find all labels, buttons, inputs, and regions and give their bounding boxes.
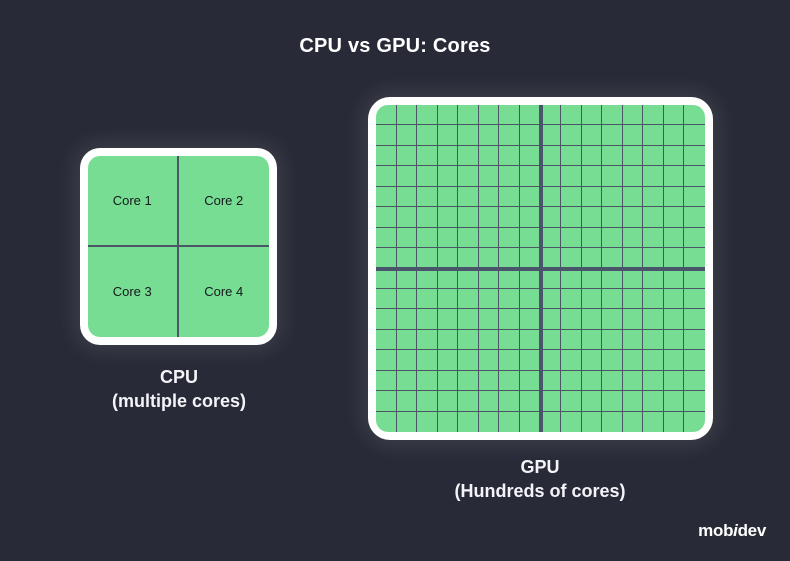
- gpu-core-cell: [684, 350, 705, 370]
- gpu-core-cell: [561, 228, 582, 248]
- gpu-core-cell: [397, 166, 418, 186]
- gpu-core-cell: [499, 289, 520, 309]
- gpu-core-cell: [458, 412, 479, 432]
- gpu-core-cell: [520, 166, 541, 186]
- gpu-core-cell: [417, 146, 438, 166]
- gpu-core-cell: [499, 371, 520, 391]
- gpu-core-cell: [479, 105, 500, 125]
- gpu-core-cell: [684, 289, 705, 309]
- gpu-core-cell: [602, 289, 623, 309]
- gpu-core-cell: [602, 207, 623, 227]
- gpu-core-cell: [479, 269, 500, 289]
- gpu-caption: GPU (Hundreds of cores): [410, 456, 670, 504]
- gpu-core-cell: [376, 371, 397, 391]
- gpu-core-cell: [417, 289, 438, 309]
- gpu-core-cell: [623, 371, 644, 391]
- gpu-core-cell: [684, 228, 705, 248]
- gpu-core-cell: [541, 125, 562, 145]
- gpu-core-cell: [664, 248, 685, 268]
- gpu-core-cell: [643, 309, 664, 329]
- gpu-core-cell: [541, 228, 562, 248]
- gpu-core-cell: [520, 125, 541, 145]
- gpu-core-cell: [561, 391, 582, 411]
- gpu-core-cell: [561, 125, 582, 145]
- gpu-core-cell: [664, 269, 685, 289]
- gpu-core-cell: [561, 330, 582, 350]
- gpu-core-cell: [417, 309, 438, 329]
- gpu-core-cell: [397, 125, 418, 145]
- gpu-core-cell: [458, 207, 479, 227]
- gpu-core-cell: [582, 248, 603, 268]
- gpu-core-cell: [438, 289, 459, 309]
- gpu-core-cell: [643, 228, 664, 248]
- gpu-core-cell: [438, 309, 459, 329]
- gpu-core-cell: [458, 269, 479, 289]
- gpu-core-cell: [397, 228, 418, 248]
- gpu-core-cell: [561, 289, 582, 309]
- gpu-core-cell: [541, 330, 562, 350]
- gpu-core-cell: [438, 207, 459, 227]
- gpu-core-cell: [602, 146, 623, 166]
- gpu-core-cell: [417, 371, 438, 391]
- gpu-core-cell: [458, 166, 479, 186]
- gpu-core-cell: [479, 228, 500, 248]
- gpu-chip-frame: [368, 97, 713, 440]
- gpu-core-cell: [684, 125, 705, 145]
- gpu-core-cell: [664, 105, 685, 125]
- gpu-core-cell: [520, 391, 541, 411]
- gpu-core-cell: [623, 207, 644, 227]
- gpu-core-cell: [602, 309, 623, 329]
- gpu-core-cell: [376, 350, 397, 370]
- gpu-core-cell: [397, 248, 418, 268]
- gpu-core-cell: [541, 289, 562, 309]
- gpu-core-cell: [458, 350, 479, 370]
- gpu-core-cell: [602, 391, 623, 411]
- gpu-core-cell: [664, 187, 685, 207]
- gpu-core-cell: [397, 289, 418, 309]
- gpu-core-cell: [417, 166, 438, 186]
- diagram-canvas: CPU vs GPU: Cores Core 1 Core 2 Core 3 C…: [0, 0, 790, 561]
- gpu-core-cell: [582, 371, 603, 391]
- gpu-core-cell: [499, 330, 520, 350]
- gpu-core-cell: [520, 146, 541, 166]
- gpu-core-cell: [684, 412, 705, 432]
- gpu-core-cell: [561, 350, 582, 370]
- gpu-core-cell: [561, 207, 582, 227]
- gpu-core-cell: [643, 125, 664, 145]
- gpu-core-cell: [602, 412, 623, 432]
- gpu-core-cell: [376, 207, 397, 227]
- gpu-core-cell: [602, 228, 623, 248]
- gpu-die: [376, 105, 705, 432]
- gpu-core-cell: [417, 391, 438, 411]
- gpu-core-cell: [397, 350, 418, 370]
- gpu-core-cell: [623, 146, 644, 166]
- gpu-core-cell: [479, 125, 500, 145]
- gpu-core-cell: [499, 146, 520, 166]
- gpu-core-cell: [561, 187, 582, 207]
- gpu-core-cell: [623, 166, 644, 186]
- gpu-core-cell: [438, 105, 459, 125]
- gpu-core-cell: [458, 330, 479, 350]
- gpu-core-cell: [479, 391, 500, 411]
- cpu-core-label: Core 4: [204, 284, 243, 299]
- gpu-core-cell: [458, 248, 479, 268]
- cpu-core-label: Core 1: [113, 193, 152, 208]
- gpu-core-cell: [520, 228, 541, 248]
- cpu-chip-frame: Core 1 Core 2 Core 3 Core 4: [80, 148, 277, 345]
- gpu-core-cell: [684, 105, 705, 125]
- gpu-core-cell: [582, 166, 603, 186]
- gpu-core-cell: [499, 207, 520, 227]
- gpu-core-cell: [623, 187, 644, 207]
- cpu-core-cell: Core 3: [88, 247, 179, 338]
- gpu-core-cell: [499, 248, 520, 268]
- gpu-core-cell: [499, 269, 520, 289]
- gpu-core-cell: [417, 207, 438, 227]
- gpu-core-cell: [417, 350, 438, 370]
- gpu-core-cell: [438, 248, 459, 268]
- gpu-core-cell: [376, 330, 397, 350]
- gpu-core-cell: [376, 269, 397, 289]
- gpu-core-cell: [541, 187, 562, 207]
- cpu-core-label: Core 3: [113, 284, 152, 299]
- gpu-core-cell: [417, 412, 438, 432]
- gpu-core-cell: [417, 228, 438, 248]
- gpu-core-cell: [438, 269, 459, 289]
- gpu-core-cell: [664, 228, 685, 248]
- gpu-core-cell: [541, 391, 562, 411]
- gpu-core-cell: [541, 412, 562, 432]
- gpu-core-cell: [582, 350, 603, 370]
- cpu-core-cell: Core 1: [88, 156, 179, 247]
- gpu-core-cell: [664, 391, 685, 411]
- gpu-core-cell: [520, 187, 541, 207]
- gpu-core-cell: [499, 309, 520, 329]
- gpu-core-cell: [602, 166, 623, 186]
- gpu-core-cell: [376, 309, 397, 329]
- gpu-core-cell: [417, 269, 438, 289]
- gpu-core-cell: [684, 371, 705, 391]
- gpu-core-cell: [643, 391, 664, 411]
- gpu-core-cell: [582, 412, 603, 432]
- gpu-core-cell: [438, 125, 459, 145]
- gpu-core-cell: [520, 105, 541, 125]
- gpu-core-cell: [684, 269, 705, 289]
- gpu-core-cell: [438, 350, 459, 370]
- gpu-core-cell: [458, 228, 479, 248]
- logo-part-1: mob: [698, 521, 733, 540]
- gpu-core-cell: [602, 105, 623, 125]
- gpu-core-cell: [561, 166, 582, 186]
- gpu-core-cell: [643, 105, 664, 125]
- gpu-core-cell: [664, 330, 685, 350]
- gpu-core-cell: [561, 412, 582, 432]
- gpu-core-cell: [664, 350, 685, 370]
- gpu-core-cell: [479, 187, 500, 207]
- gpu-core-cell: [643, 371, 664, 391]
- gpu-core-cell: [376, 248, 397, 268]
- gpu-core-cell: [643, 289, 664, 309]
- gpu-core-cell: [623, 309, 644, 329]
- gpu-caption-line1: GPU: [520, 457, 559, 477]
- gpu-core-cell: [541, 371, 562, 391]
- cpu-caption: CPU (multiple cores): [50, 366, 308, 414]
- cpu-caption-line1: CPU: [160, 367, 198, 387]
- gpu-core-cell: [623, 248, 644, 268]
- gpu-core-cell: [582, 105, 603, 125]
- gpu-core-cell: [664, 412, 685, 432]
- gpu-center-divider-horizontal: [376, 267, 705, 271]
- gpu-core-cell: [479, 350, 500, 370]
- gpu-core-cell: [458, 371, 479, 391]
- cpu-die: Core 1 Core 2 Core 3 Core 4: [88, 156, 269, 337]
- gpu-core-cell: [582, 187, 603, 207]
- gpu-core-cell: [582, 228, 603, 248]
- gpu-core-cell: [397, 269, 418, 289]
- gpu-core-cell: [541, 146, 562, 166]
- gpu-core-cell: [376, 391, 397, 411]
- gpu-core-cell: [664, 146, 685, 166]
- gpu-core-cell: [684, 391, 705, 411]
- gpu-core-cell: [561, 269, 582, 289]
- gpu-core-cell: [684, 187, 705, 207]
- gpu-core-cell: [479, 412, 500, 432]
- cpu-caption-line2: (multiple cores): [50, 390, 308, 414]
- gpu-core-cell: [376, 412, 397, 432]
- gpu-core-cell: [541, 350, 562, 370]
- gpu-core-cell: [643, 350, 664, 370]
- page-title: CPU vs GPU: Cores: [0, 34, 790, 58]
- logo-part-3: dev: [738, 521, 766, 540]
- gpu-core-cell: [438, 330, 459, 350]
- gpu-core-cell: [397, 412, 418, 432]
- gpu-core-cell: [561, 146, 582, 166]
- gpu-core-cell: [438, 412, 459, 432]
- gpu-core-cell: [582, 125, 603, 145]
- gpu-core-cell: [499, 228, 520, 248]
- gpu-core-cell: [438, 187, 459, 207]
- gpu-core-cell: [458, 105, 479, 125]
- cpu-core-cell: Core 4: [179, 247, 270, 338]
- gpu-core-cell: [582, 391, 603, 411]
- gpu-core-cell: [417, 125, 438, 145]
- gpu-core-cell: [664, 289, 685, 309]
- gpu-core-cell: [458, 309, 479, 329]
- gpu-core-cell: [541, 248, 562, 268]
- gpu-core-cell: [479, 309, 500, 329]
- gpu-core-cell: [582, 289, 603, 309]
- gpu-core-cell: [582, 269, 603, 289]
- gpu-core-cell: [438, 228, 459, 248]
- gpu-core-cell: [499, 412, 520, 432]
- gpu-core-cell: [479, 166, 500, 186]
- gpu-core-cell: [684, 207, 705, 227]
- gpu-core-cell: [602, 350, 623, 370]
- gpu-core-cell: [520, 269, 541, 289]
- gpu-core-cell: [561, 105, 582, 125]
- gpu-core-cell: [623, 412, 644, 432]
- gpu-core-cell: [684, 330, 705, 350]
- gpu-core-cell: [376, 289, 397, 309]
- gpu-core-cell: [397, 371, 418, 391]
- gpu-core-cell: [582, 330, 603, 350]
- gpu-core-cell: [643, 207, 664, 227]
- gpu-core-cell: [664, 309, 685, 329]
- gpu-core-cell: [499, 105, 520, 125]
- gpu-core-cell: [643, 330, 664, 350]
- gpu-core-cell: [602, 269, 623, 289]
- gpu-core-cell: [684, 309, 705, 329]
- gpu-core-cell: [582, 146, 603, 166]
- gpu-core-cell: [376, 125, 397, 145]
- gpu-core-cell: [376, 228, 397, 248]
- gpu-core-cell: [499, 166, 520, 186]
- gpu-core-cell: [417, 248, 438, 268]
- gpu-core-cell: [397, 146, 418, 166]
- gpu-core-cell: [541, 166, 562, 186]
- gpu-core-cell: [541, 309, 562, 329]
- gpu-core-cell: [438, 166, 459, 186]
- gpu-core-cell: [623, 330, 644, 350]
- gpu-core-cell: [458, 391, 479, 411]
- gpu-core-cell: [520, 330, 541, 350]
- gpu-core-cell: [520, 207, 541, 227]
- gpu-core-cell: [684, 248, 705, 268]
- gpu-core-cell: [664, 207, 685, 227]
- gpu-core-cell: [479, 146, 500, 166]
- gpu-core-cell: [582, 309, 603, 329]
- gpu-core-cell: [479, 207, 500, 227]
- gpu-core-cell: [643, 412, 664, 432]
- gpu-core-cell: [561, 248, 582, 268]
- gpu-core-cell: [643, 146, 664, 166]
- gpu-core-cell: [397, 330, 418, 350]
- gpu-core-cell: [417, 187, 438, 207]
- gpu-core-cell: [623, 125, 644, 145]
- gpu-core-cell: [520, 412, 541, 432]
- gpu-core-cell: [520, 371, 541, 391]
- gpu-core-cell: [643, 166, 664, 186]
- cpu-core-label: Core 2: [204, 193, 243, 208]
- gpu-core-cell: [397, 187, 418, 207]
- gpu-core-cell: [684, 166, 705, 186]
- gpu-core-cell: [376, 105, 397, 125]
- gpu-core-cell: [541, 269, 562, 289]
- gpu-core-cell: [397, 207, 418, 227]
- gpu-core-cell: [417, 105, 438, 125]
- gpu-core-cell: [520, 289, 541, 309]
- cpu-core-cell: Core 2: [179, 156, 270, 247]
- gpu-core-cell: [397, 391, 418, 411]
- gpu-core-cell: [643, 187, 664, 207]
- gpu-core-cell: [602, 125, 623, 145]
- gpu-core-cell: [541, 207, 562, 227]
- gpu-core-cell: [458, 146, 479, 166]
- gpu-core-cell: [623, 228, 644, 248]
- gpu-core-cell: [643, 269, 664, 289]
- gpu-core-cell: [376, 166, 397, 186]
- gpu-core-cell: [479, 289, 500, 309]
- gpu-core-cell: [602, 371, 623, 391]
- gpu-core-cell: [582, 207, 603, 227]
- gpu-core-cell: [602, 248, 623, 268]
- gpu-core-cell: [561, 309, 582, 329]
- gpu-core-cell: [458, 289, 479, 309]
- gpu-core-cell: [458, 187, 479, 207]
- gpu-core-cell: [520, 248, 541, 268]
- gpu-core-cell: [417, 330, 438, 350]
- gpu-core-cell: [376, 187, 397, 207]
- gpu-core-cell: [664, 125, 685, 145]
- gpu-core-cell: [664, 166, 685, 186]
- mobidev-logo: mobidev: [698, 521, 766, 541]
- gpu-core-cell: [397, 105, 418, 125]
- gpu-core-cell: [458, 125, 479, 145]
- gpu-core-cell: [623, 289, 644, 309]
- gpu-core-cell: [397, 309, 418, 329]
- gpu-core-cell: [541, 105, 562, 125]
- gpu-core-cell: [479, 248, 500, 268]
- gpu-core-cell: [623, 105, 644, 125]
- gpu-core-cell: [499, 125, 520, 145]
- gpu-core-cell: [479, 371, 500, 391]
- gpu-core-cell: [520, 309, 541, 329]
- gpu-core-cell: [499, 350, 520, 370]
- gpu-core-cell: [602, 330, 623, 350]
- gpu-core-cell: [438, 371, 459, 391]
- gpu-core-cell: [561, 371, 582, 391]
- gpu-core-cell: [376, 146, 397, 166]
- gpu-core-cell: [623, 269, 644, 289]
- gpu-core-cell: [438, 146, 459, 166]
- gpu-core-cell: [664, 371, 685, 391]
- gpu-core-cell: [499, 391, 520, 411]
- gpu-core-cell: [643, 248, 664, 268]
- gpu-core-cell: [623, 391, 644, 411]
- gpu-core-cell: [602, 187, 623, 207]
- gpu-core-cell: [520, 350, 541, 370]
- gpu-core-cell: [684, 146, 705, 166]
- gpu-core-cell: [479, 330, 500, 350]
- gpu-core-cell: [438, 391, 459, 411]
- gpu-core-cell: [623, 350, 644, 370]
- gpu-core-cell: [499, 187, 520, 207]
- gpu-caption-line2: (Hundreds of cores): [410, 480, 670, 504]
